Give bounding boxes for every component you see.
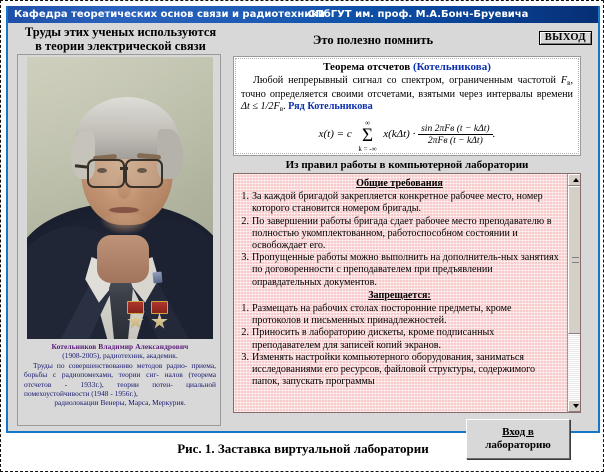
scroll-down-arrow-icon[interactable] (568, 400, 581, 412)
scrollbar-grip (572, 257, 579, 263)
list-item-text: Приносить в лабораторию дискеты, кроме п… (252, 327, 561, 351)
bio-line-5: радиолокации Венеры, Марса, Меркурия. (24, 398, 216, 407)
list-item-number: 2. (238, 216, 249, 253)
list-item: 1. Размещать на рабочих столах посторонн… (238, 303, 561, 327)
theorem-title: Теорема отсчетов (Котельникова) (234, 61, 580, 73)
list-item-number: 2. (238, 327, 249, 351)
list-item-number: 1. (238, 303, 249, 327)
theorem-var-dt: Δt ≤ 1/2F (241, 101, 280, 112)
left-panel-heading-line1: Труды этих ученых используются (18, 26, 223, 40)
list-item: 3. Изменять настройки компьютерного обор… (238, 352, 561, 389)
theorem-body-part1: Любой непрерывный сигнал со спектром, ог… (253, 75, 561, 86)
rules-section-forbidden: Запрещается: (238, 290, 561, 302)
portrait-life-dates: (1908-2005), радиотехник, академик. (22, 351, 218, 360)
list-item: 2. Приносить в лабораторию дискеты, кром… (238, 327, 561, 351)
halftone-overlay (27, 57, 213, 339)
rules-section-general: Общие требования (238, 178, 561, 190)
portrait-biography: Труды по совершенствованию методов радио… (24, 361, 216, 407)
formula-lhs: x(t) = c (319, 128, 352, 140)
figure-caption: Рис. 1. Заставка виртуальной лаборатории (1, 441, 604, 457)
formula-denominator: 2πFв (t − kΔt) (418, 135, 493, 146)
left-panel-heading-line2: в теории электрической связи (18, 40, 223, 54)
formula-fraction: sin 2πFв (t − kΔt) 2πFв (t − kΔt) (418, 123, 493, 146)
list-item-text: За каждой бригадой закрепляется конкретн… (252, 191, 561, 215)
list-item: 3. Пропущенные работы можно выполнить на… (238, 252, 561, 289)
theorem-title-main: Теорема отсчетов (323, 61, 410, 73)
window-titlebar: Кафедра теоретических основ связи и ради… (8, 6, 598, 23)
portrait-photo (27, 57, 213, 339)
formula-numerator: sin 2πFв (t − kΔt) (418, 123, 493, 135)
enter-button-line1: Вход в (502, 426, 534, 438)
list-item-text: Изменять настройки компьютерного оборудо… (252, 352, 561, 389)
list-item-text: Пропущенные работы можно выполнить на до… (252, 252, 561, 289)
titlebar-department-label: Кафедра теоретических основ связи и ради… (14, 6, 325, 23)
theorem-series-label: Ряд Котельникова (288, 101, 373, 112)
exit-button[interactable]: ВЫХОД (539, 31, 592, 45)
rules-scrollbar[interactable] (567, 174, 580, 412)
right-panel-heading: Это полезно помнить (233, 33, 513, 48)
list-item-number: 1. (238, 191, 249, 215)
formula-tail: . (493, 128, 496, 140)
portrait-panel: Котельников Владимир Александрович (1908… (17, 54, 221, 426)
titlebar-university-label: СПбГУТ им. проф. М.А.Бонч-Бруевича (308, 6, 528, 23)
scroll-up-arrow-icon[interactable] (568, 174, 581, 186)
list-item: 2. По завершении работы бригада сдает ра… (238, 216, 561, 253)
rules-text-area[interactable]: Общие требования 1. За каждой бригадой з… (234, 174, 567, 412)
rules-heading: Из правил работы в компьютерной лаборато… (233, 159, 581, 171)
list-item-text: Размещать на рабочих столах посторонние … (252, 303, 561, 327)
summation-symbol: ∞ Σ k = -∞ (354, 130, 380, 142)
bio-line-1: Труды по совершенствованию методов радио… (33, 361, 187, 370)
portrait-name: Котельников Владимир Александрович (22, 342, 218, 351)
theorem-title-author: (Котельникова) (413, 61, 491, 73)
list-item: 1. За каждой бригадой закрепляется конкр… (238, 191, 561, 215)
kotelnikov-series-formula: x(t) = c ∞ Σ k = -∞ x(kΔt) · sin 2πFв (t… (234, 123, 580, 146)
sigma-glyph: Σ (354, 130, 380, 142)
sum-lower-limit: k = -∞ (354, 145, 380, 153)
theorem-body: Любой непрерывный сигнал со спектром, ог… (241, 75, 573, 116)
left-panel-heading: Труды этих ученых используются в теории … (18, 26, 223, 53)
list-item-number: 3. (238, 352, 249, 389)
list-item-number: 3. (238, 252, 249, 289)
rules-panel: Общие требования 1. За каждой бригадой з… (233, 173, 581, 413)
list-item-text: По завершении работы бригада сдает рабоч… (252, 216, 561, 253)
theorem-body-part3: . (283, 101, 286, 112)
theorem-box: Теорема отсчетов (Котельникова) Любой не… (233, 56, 581, 156)
application-window: Кафедра теоретических основ связи и ради… (6, 6, 600, 433)
scrollbar-thumb[interactable] (568, 186, 581, 334)
figure-container: Кафедра теоретических основ связи и ради… (0, 0, 604, 472)
sum-upper-limit: ∞ (354, 119, 380, 127)
formula-term: x(kΔt) · (383, 128, 415, 140)
right-column: Теорема отсчетов (Котельникова) Любой не… (227, 54, 593, 426)
